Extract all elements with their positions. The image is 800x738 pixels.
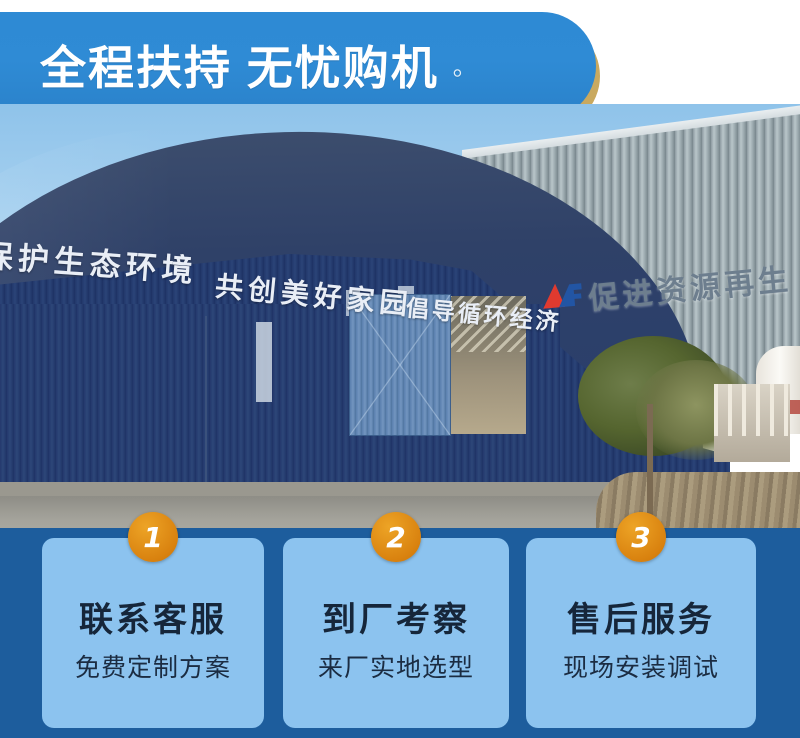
steps-section: 1 联系客服 免费定制方案 2 到厂考察 来厂实地选型 3 售后服务 现场安装调… (0, 528, 800, 738)
step-badge-1: 1 (128, 512, 178, 562)
facade-window-1 (256, 322, 272, 402)
step-badge-3: 3 (616, 512, 666, 562)
step-title-3: 售后服务 (526, 592, 756, 641)
step-card-1[interactable]: 1 联系客服 免费定制方案 (42, 538, 264, 728)
page-title-period: 。 (453, 56, 479, 80)
page-title: 全程扶持 无忧购机 。 (40, 36, 560, 100)
step-card-3[interactable]: 3 售后服务 现场安装调试 (526, 538, 756, 728)
step-subtitle-1: 免费定制方案 (42, 648, 264, 684)
company-logo-icon (539, 277, 585, 311)
step-badge-2: 2 (371, 512, 421, 562)
step-title-1: 联系客服 (42, 592, 264, 641)
step-subtitle-3: 现场安装调试 (526, 648, 756, 684)
step-subtitle-2: 来厂实地选型 (283, 648, 509, 684)
factory-photo: 保护生态环境 共创美好家园 倡导循环经济 促进资源再生 (0, 104, 800, 528)
promo-banner-page: 全程扶持 无忧购机 。 保护生态环境 共创美好家园 倡导 (0, 0, 800, 738)
tree-trunk (647, 404, 653, 524)
page-title-text: 全程扶持 无忧购机 (40, 45, 439, 91)
step-card-2[interactable]: 2 到厂考察 来厂实地选型 (283, 538, 509, 728)
step-title-2: 到厂考察 (283, 592, 509, 641)
downpipe (205, 316, 207, 491)
tanker-truck-railing (714, 384, 790, 436)
